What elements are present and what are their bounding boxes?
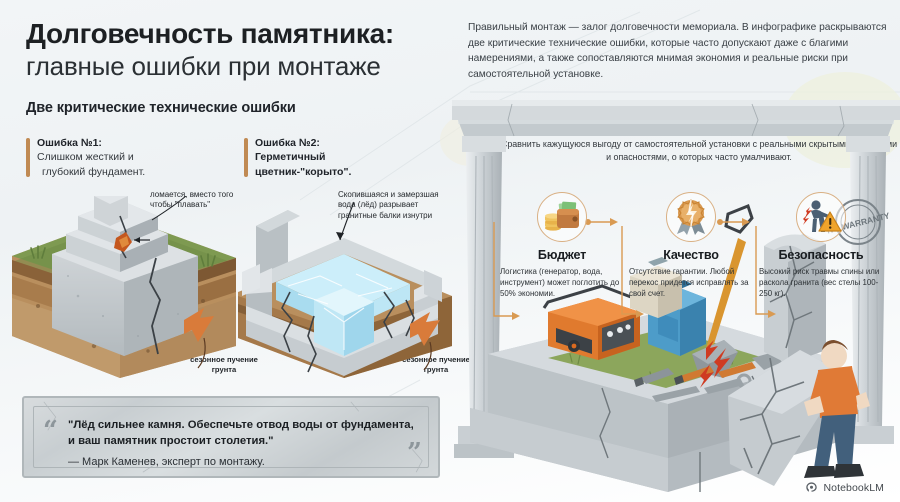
title-line-1: Долговечность памятника: bbox=[26, 18, 456, 49]
error-1-line-2: глубокий фундамент. bbox=[37, 165, 211, 179]
infographic-canvas: Долговечность памятника: главные ошибки … bbox=[0, 0, 900, 502]
quote-plate: “ ” "Лёд сильнее камня. Обеспечьте отвод… bbox=[22, 396, 440, 478]
notebooklm-logo-text: NotebookLM bbox=[823, 482, 884, 494]
intro-paragraph: Правильный монтаж — залог долговечности … bbox=[468, 20, 892, 82]
illustration-sealed-flowerbox-ice bbox=[228, 196, 460, 378]
error-2-line-1: Герметичный bbox=[255, 150, 429, 164]
expert-quote-block: “ ” "Лёд сильнее камня. Обеспечьте отвод… bbox=[22, 396, 440, 478]
wallet-coins-icon bbox=[537, 192, 587, 242]
error-2-title: Ошибка №2: bbox=[255, 136, 429, 150]
illustration-rigid-foundation bbox=[8, 196, 240, 378]
page-title: Долговечность памятника: главные ошибки … bbox=[26, 18, 456, 82]
quote-text: "Лёд сильнее камня. Обеспечьте отвод вод… bbox=[68, 417, 418, 449]
error-1-title: Ошибка №1: bbox=[37, 136, 211, 150]
error-2-line-2: цветник-"корыто". bbox=[255, 165, 429, 179]
card-budget-body: Логистика (генератор, вода, инструмент) … bbox=[498, 266, 626, 300]
back-injury-warning-icon bbox=[796, 192, 846, 242]
error-block-2: Ошибка №2: Герметичный цветник-"корыто". bbox=[244, 136, 429, 179]
quote-mark-open: “ bbox=[43, 418, 58, 444]
card-budget-heading: Бюджет bbox=[498, 248, 626, 262]
error-block-1: Ошибка №1: Слишком жесткий и глубокий фу… bbox=[26, 136, 211, 179]
risk-card-budget: Бюджет Логистика (генератор, вода, инстр… bbox=[498, 192, 626, 300]
card-safety-heading: Безопасность bbox=[757, 248, 885, 262]
card-quality-heading: Качество bbox=[627, 248, 755, 262]
title-line-2: главные ошибки при монтаже bbox=[26, 51, 456, 82]
card-quality-body: Отсутствие гарантии. Любой перекос приде… bbox=[627, 266, 755, 300]
error-1-line-1: Слишком жесткий и bbox=[37, 150, 211, 164]
notebooklm-logo: NotebookLM bbox=[805, 481, 884, 494]
quote-author: — Марк Каменев, эксперт по монтажу. bbox=[68, 456, 265, 468]
left-section-heading: Две критические технические ошибки bbox=[26, 100, 296, 116]
risk-card-safety: Безопасность Высокий риск травмы спины и… bbox=[757, 192, 885, 300]
risk-card-quality: Качество Отсутствие гарантии. Любой пере… bbox=[627, 192, 755, 300]
broken-medal-icon bbox=[666, 192, 716, 242]
card-safety-body: Высокий риск травмы спины или раскола гр… bbox=[757, 266, 885, 300]
notebooklm-icon bbox=[805, 481, 818, 494]
